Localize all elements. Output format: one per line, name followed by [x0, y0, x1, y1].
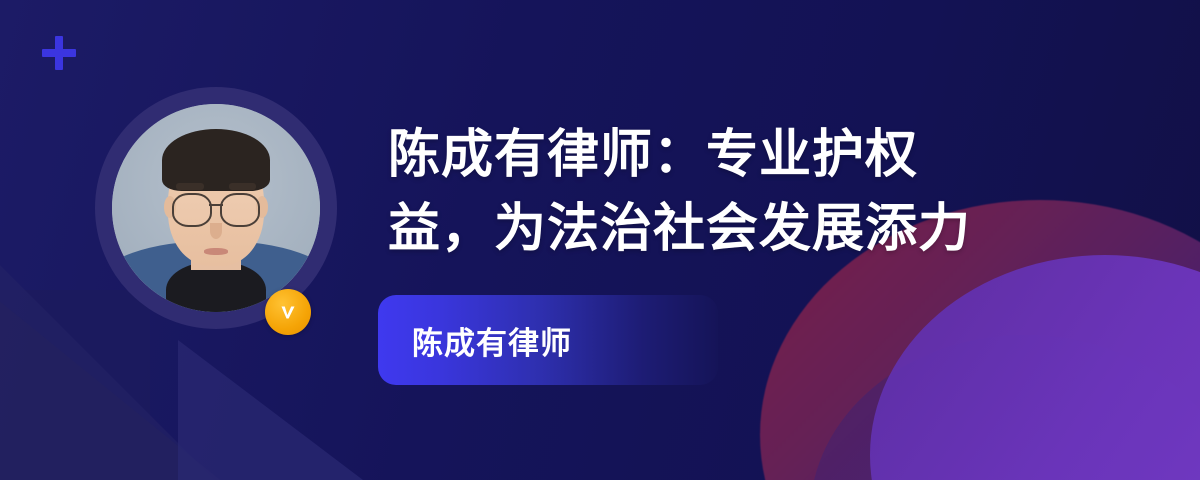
avatar: [95, 87, 337, 329]
portrait-glasses-right-lens: [220, 193, 259, 226]
plus-icon: [42, 36, 76, 70]
portrait-glasses-bridge: [209, 204, 224, 207]
verified-badge-icon: [265, 289, 311, 335]
portrait-glasses-left-lens: [172, 193, 211, 226]
portrait-mouth: [204, 248, 229, 255]
avatar-photo: [112, 104, 320, 312]
portrait-hair: [162, 129, 270, 191]
promo-banner: 陈成有律师：专业护权 益，为法治社会发展添力 陈成有律师: [0, 0, 1200, 480]
portrait-brow-left: [176, 183, 203, 190]
lawyer-name-button[interactable]: 陈成有律师: [378, 295, 718, 385]
portrait-brow-right: [229, 183, 256, 190]
page-title: 陈成有律师：专业护权 益，为法治社会发展添力: [388, 118, 1088, 266]
